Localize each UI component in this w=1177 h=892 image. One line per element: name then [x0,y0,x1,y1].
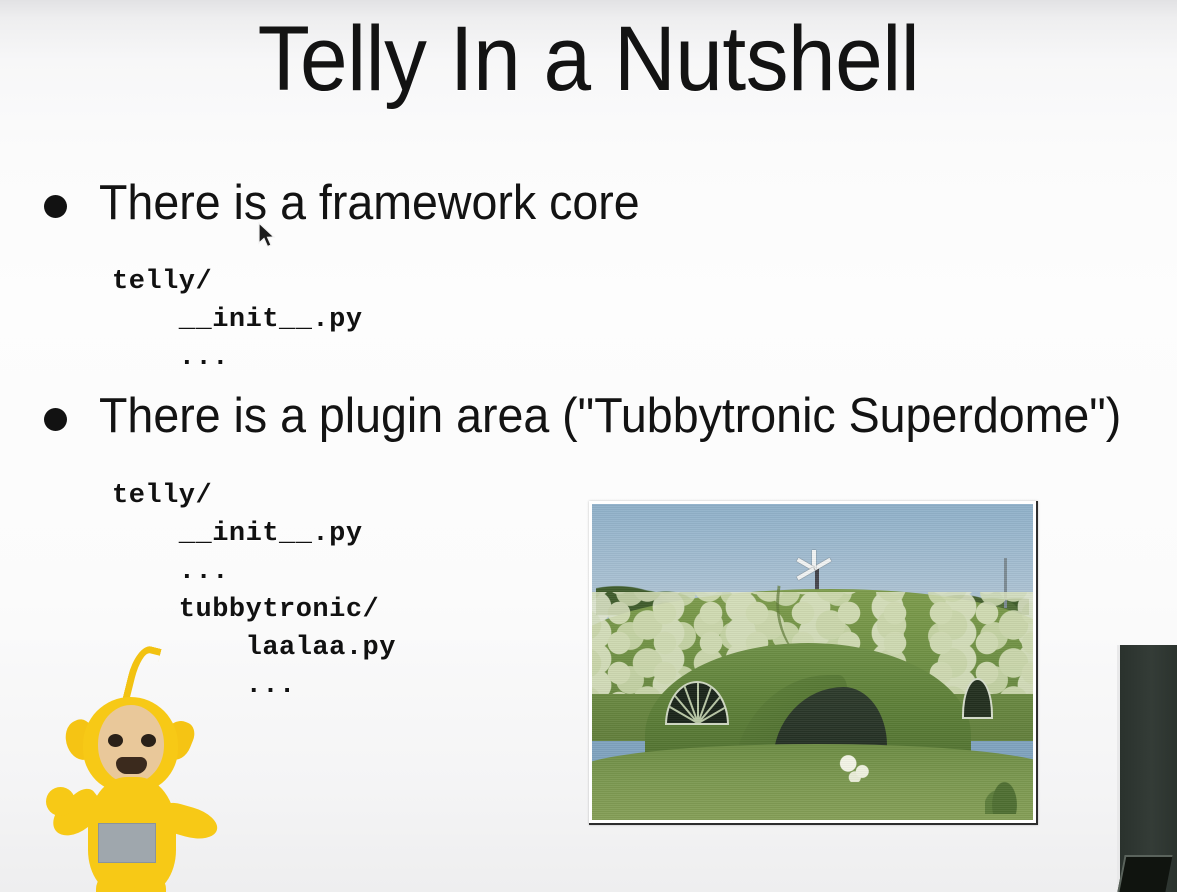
code-block-framework-core: telly/ __init__.py ... [112,263,363,377]
bullet-item-2-label: There is a plugin area ("Tubbytronic Sup… [99,388,1121,446]
bullet-item-1-label: There is a framework core [99,175,640,233]
photo-foreground-lawn [592,744,1033,820]
photo-windmill-vanes [793,556,835,578]
bullet-dot-icon [44,408,67,431]
laa-laa-teletubby [36,645,226,892]
tubbytronic-superdome-photo [589,501,1038,825]
teletubby-eye-left [108,734,123,747]
slide-title: Telly In a Nutshell [41,10,1136,109]
teletubby-fist-left [46,787,75,816]
photo-flowers [835,751,879,783]
teletubby-antenna [122,643,161,706]
photo-bush-right [985,769,1025,813]
dark-monitor-stand [1117,855,1172,892]
photo-canvas [592,504,1033,820]
teletubby-tummy-screen [98,823,156,863]
bullet-item-1: There is a framework core [44,175,668,233]
bullet-item-2: There is a plugin area ("Tubbytronic Sup… [44,388,1175,446]
teletubby-eye-right [141,734,156,747]
bullet-dot-icon [44,195,67,218]
presentation-slide: Telly In a Nutshell There is a framework… [0,0,1177,892]
teletubby-mouth [116,757,147,774]
